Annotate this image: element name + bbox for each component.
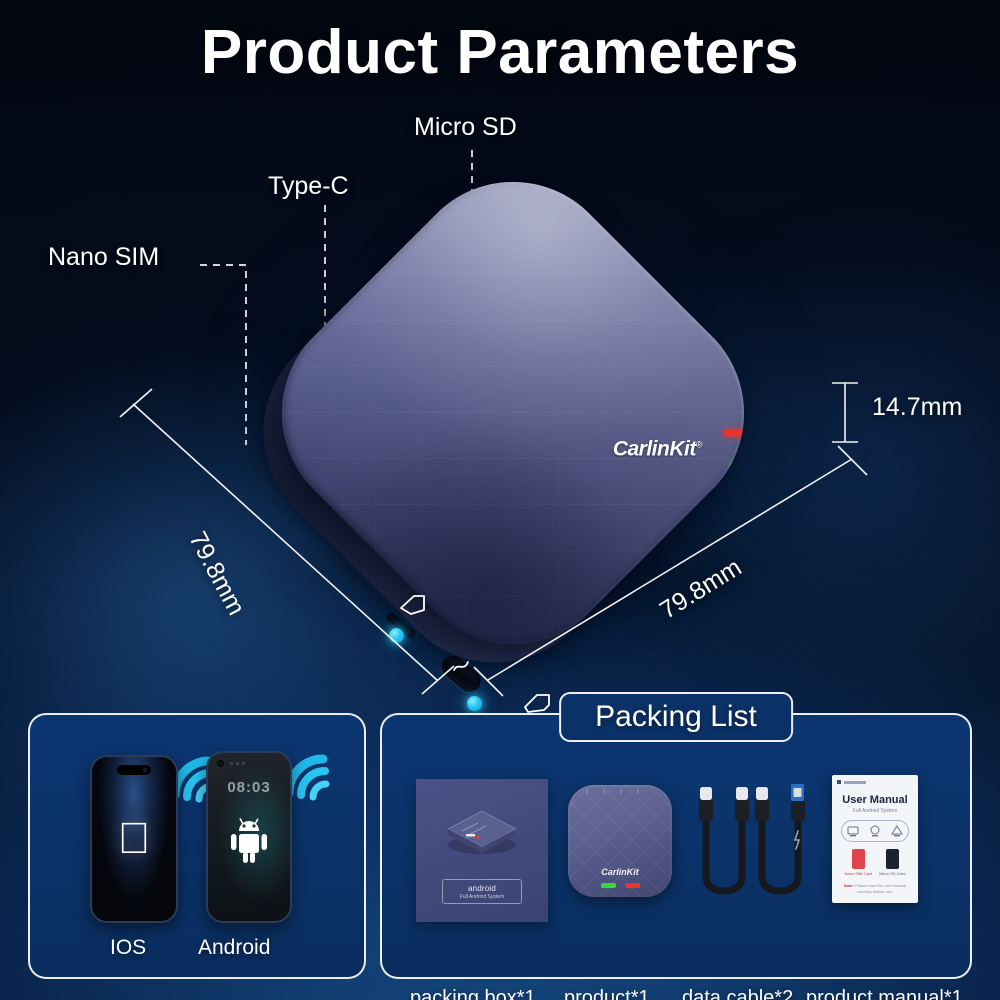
speaker-grille-icon xyxy=(230,762,248,765)
packing-list-panel: Packing List android Full Android System xyxy=(380,713,972,979)
callout-label-micro-sd: Micro SD xyxy=(414,113,517,142)
port-marker-nano-sim xyxy=(389,628,404,643)
brand-logo-text: CarlinKit xyxy=(613,437,696,460)
packing-items: android Full Android System packing box*… xyxy=(382,769,970,929)
packing-item-label-cable: data cable*2 xyxy=(682,987,793,1000)
front-camera-icon xyxy=(217,760,224,767)
led-indicator-green xyxy=(731,461,757,468)
micro-sd-card-icon xyxy=(886,849,899,869)
device-top-icon xyxy=(438,805,526,861)
dynamic-island-icon xyxy=(117,765,151,775)
android-robot-icon xyxy=(226,815,272,865)
infographic-canvas: Product Parameters Nano SIM Type-C Micro… xyxy=(0,0,1000,1000)
manual-sd-figure: Micro SD Card xyxy=(879,849,905,885)
manual-sim-figure: Nano SIM Card xyxy=(845,849,873,885)
sim-card-icon xyxy=(396,590,430,620)
packing-item-label-box: packing box*1 xyxy=(410,987,536,1000)
phone-row:  08:03 xyxy=(30,739,364,919)
device-brand-area: CarlinKit® xyxy=(605,421,755,491)
packing-item-label-manual: product manual*1 xyxy=(806,987,963,1000)
android-clock: 08:03 xyxy=(208,779,290,796)
usb-cable-icon xyxy=(694,779,806,919)
manual-art: User Manual Full Android System Nano SIM… xyxy=(832,775,918,903)
packing-item-label-product: product*1 xyxy=(564,987,650,1000)
brand-logo: CarlinKit® xyxy=(613,437,702,461)
phone-label-ios: IOS xyxy=(110,936,146,960)
product-art: CarlinKit xyxy=(568,785,672,897)
phone-label-android: Android xyxy=(198,936,270,960)
packing-list-heading: Packing List xyxy=(559,692,793,742)
callout-label-nano-sim: Nano SIM xyxy=(48,243,159,272)
data-cable-art xyxy=(694,779,806,924)
packing-box-art: android Full Android System xyxy=(416,779,548,922)
registered-mark-icon: ® xyxy=(696,439,702,449)
compatibility-panel:  08:03 xyxy=(28,713,366,979)
manual-note-text: Please read the user manual carefully be… xyxy=(855,883,906,894)
android-badge: android Full Android System xyxy=(442,879,522,904)
led-indicator-green xyxy=(601,883,616,888)
manual-icon-1 xyxy=(846,824,860,838)
manual-subtitle: Full Android System xyxy=(832,808,918,814)
product-device-illustration: CarlinKit® xyxy=(150,190,870,670)
phone-ios:  xyxy=(90,755,178,923)
manual-card-label-sd: Micro SD Card xyxy=(879,871,905,876)
product-brand-logo: CarlinKit xyxy=(568,867,672,877)
manual-title: User Manual xyxy=(832,794,918,806)
manual-icon-3 xyxy=(890,824,904,838)
phone-android: 08:03 xyxy=(206,751,292,923)
type-c-icon xyxy=(450,656,472,678)
product-leds xyxy=(568,883,672,888)
manual-icon-row xyxy=(841,820,909,842)
manual-note: Note: Please read the user manual carefu… xyxy=(839,883,911,895)
led-indicator-red xyxy=(625,883,640,888)
port-marker-type-c xyxy=(467,696,482,711)
manual-note-prefix: Note: xyxy=(844,883,854,888)
android-badge-tagline: Full Android System xyxy=(460,894,504,900)
page-title: Product Parameters xyxy=(0,17,1000,88)
manual-icon-2 xyxy=(868,824,882,838)
manual-card-figures: Nano SIM Card Micro SD Card xyxy=(841,849,909,885)
nano-sim-card-icon xyxy=(852,849,865,869)
dimension-label-height: 14.7mm xyxy=(872,393,962,422)
led-indicator-red xyxy=(723,429,749,436)
manual-header-bar xyxy=(837,780,866,784)
apple-logo-icon:  xyxy=(118,817,151,861)
manual-card-label-sim: Nano SIM Card xyxy=(845,871,873,876)
vent-slots-icon xyxy=(586,789,654,794)
android-badge-os: android xyxy=(468,884,496,893)
